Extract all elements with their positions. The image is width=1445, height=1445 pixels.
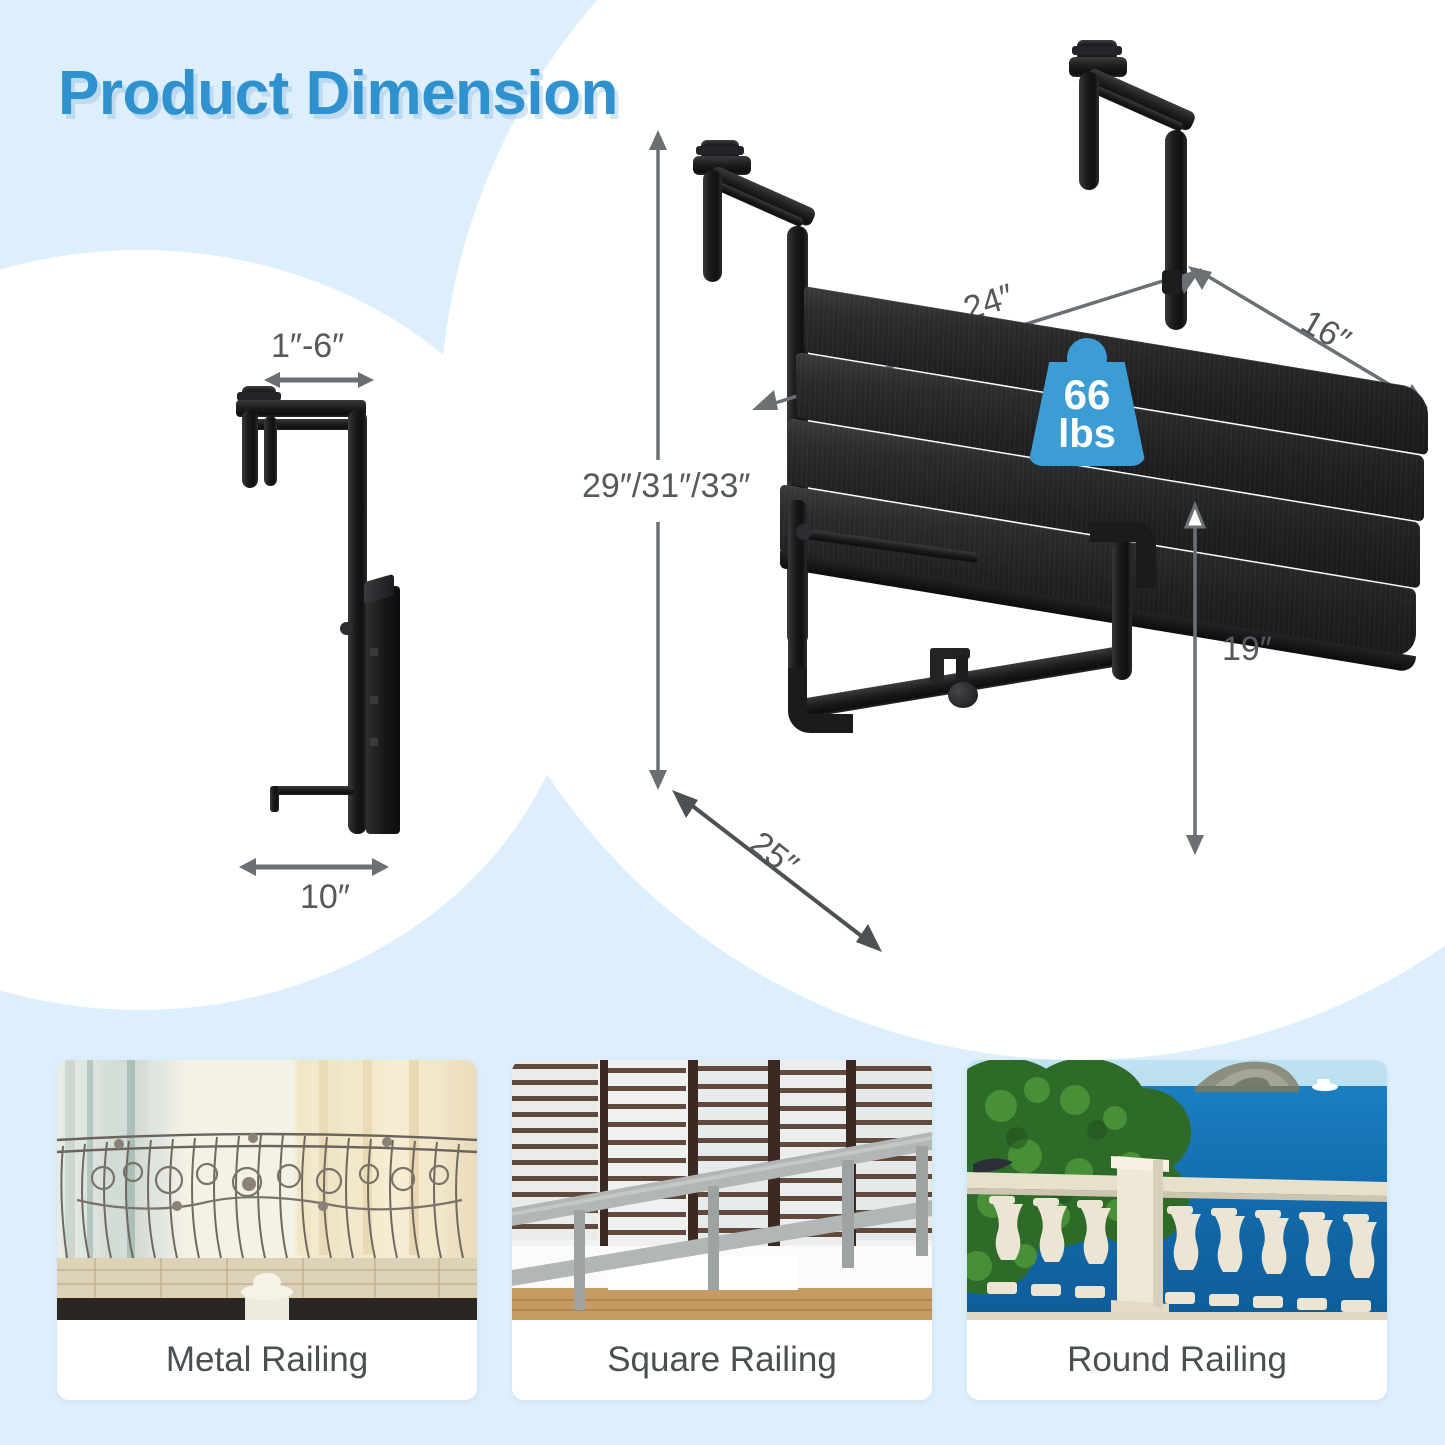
support-frame — [780, 500, 1200, 770]
railing-card-list: Metal Railing — [0, 1060, 1445, 1445]
railing-card-caption: Square Railing — [512, 1320, 932, 1400]
height-dimension-arrow — [640, 130, 676, 790]
railing-card-round[interactable]: Round Railing — [967, 1060, 1387, 1400]
railing-card-metal[interactable]: Metal Railing — [57, 1060, 477, 1400]
folded-depth-label: 10″ — [300, 878, 350, 917]
folded-product-illustration — [236, 386, 416, 856]
square-railing-photo — [512, 1060, 932, 1320]
railing-card-caption: Round Railing — [967, 1320, 1387, 1400]
page-title: Product Dimension — [58, 58, 618, 130]
folded-depth-arrow — [239, 855, 389, 879]
railing-card-caption: Metal Railing — [57, 1320, 477, 1400]
clamp-range-label: 1″-6″ — [271, 327, 344, 366]
round-railing-photo — [967, 1060, 1387, 1320]
infographic-canvas: Product Dimension 1″-6″ — [0, 0, 1445, 1445]
clearance-label: 19″ — [1222, 630, 1272, 669]
railing-card-square[interactable]: Square Railing — [512, 1060, 932, 1400]
metal-railing-photo — [57, 1060, 477, 1320]
weight-value: 66 — [1028, 374, 1146, 415]
weight-unit: lbs — [1028, 415, 1146, 454]
locking-knob — [930, 648, 1000, 708]
clearance-dimension-arrow — [1178, 505, 1212, 855]
